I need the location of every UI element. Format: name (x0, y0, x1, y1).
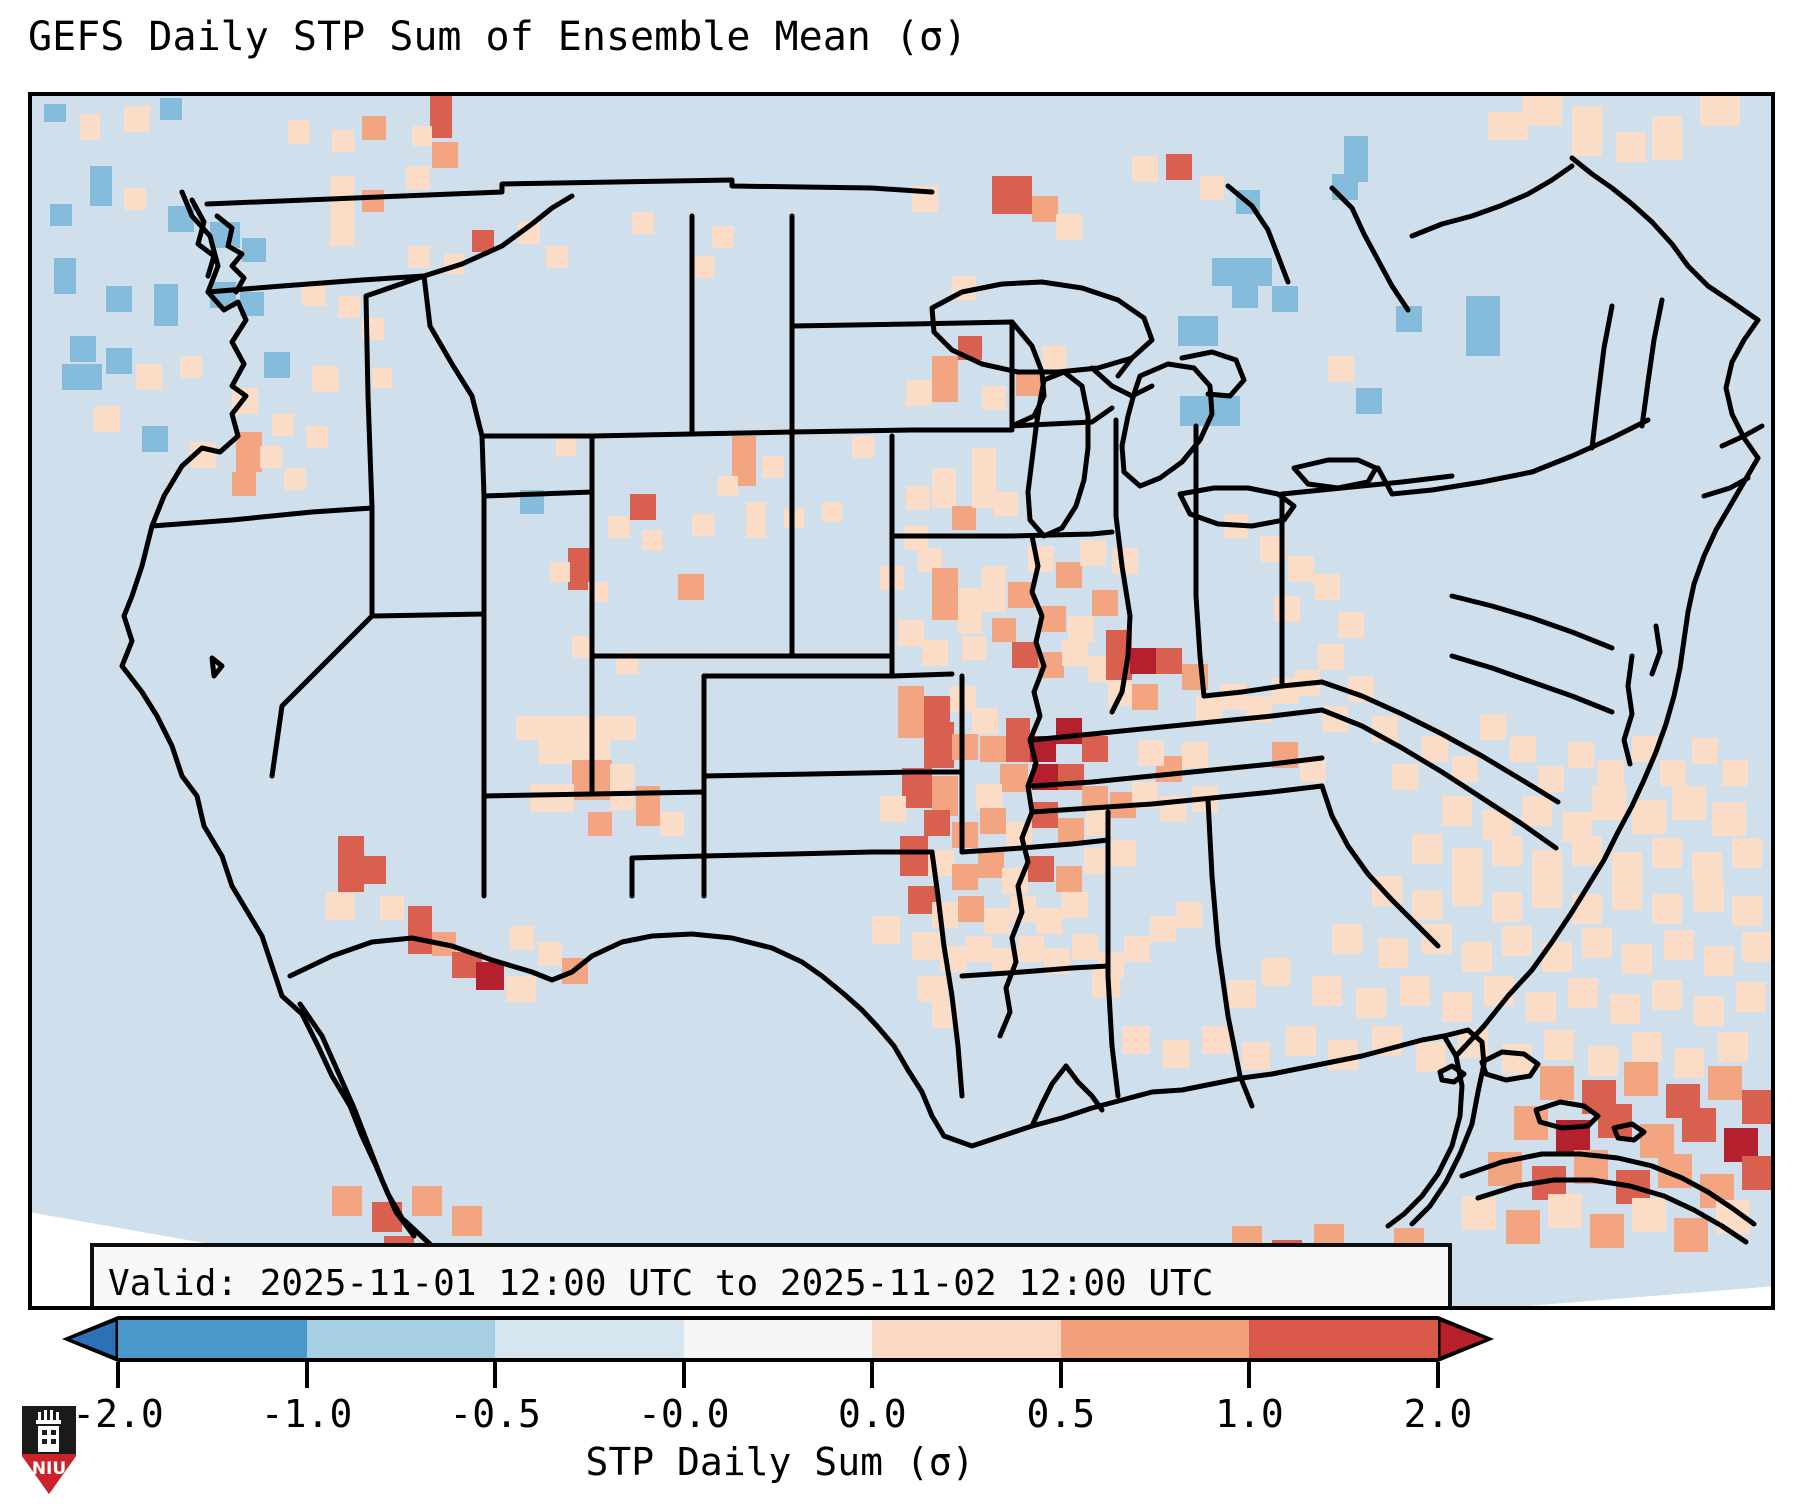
colorbar-tick-label: -2.0 (72, 1392, 164, 1436)
geography-layer (32, 96, 1771, 1306)
colorbar-gradient (118, 1316, 1438, 1362)
colorbar-tick (870, 1362, 874, 1388)
niu-logo-text: NIU (32, 1459, 66, 1479)
colorbar-segment (1249, 1320, 1438, 1358)
colorbar-tick (305, 1362, 309, 1388)
niu-logo: NIU (18, 1404, 80, 1496)
colorbar-tick (682, 1362, 686, 1388)
map-panel: Valid: 2025-11-01 12:00 UTC to 2025-11-0… (28, 92, 1775, 1310)
colorbar-tick-label: -1.0 (261, 1392, 353, 1436)
colorbar-tick-label: 0.5 (1027, 1392, 1096, 1436)
colorbar-tick-label: 0.0 (838, 1392, 907, 1436)
page-title: GEFS Daily STP Sum of Ensemble Mean (σ) (28, 14, 1768, 60)
colorbar-segment (307, 1320, 496, 1358)
colorbar-segment (684, 1320, 873, 1358)
colorbar-segment (495, 1320, 684, 1358)
colorbar-axis-label: STP Daily Sum (σ) (0, 1440, 1560, 1484)
colorbar-ticks (118, 1362, 1438, 1388)
colorbar-tick (1436, 1362, 1440, 1388)
colorbar-tick (116, 1362, 120, 1388)
colorbar-under-arrow (62, 1316, 118, 1362)
colorbar-tick (493, 1362, 497, 1388)
valid-time-text: Valid: 2025-11-01 12:00 UTC to 2025-11-0… (108, 1257, 1434, 1310)
colorbar-over-arrow (1438, 1316, 1494, 1362)
colorbar-tick (1247, 1362, 1251, 1388)
colorbar-tick-label: -0.0 (638, 1392, 730, 1436)
colorbar-tick-label: 2.0 (1404, 1392, 1473, 1436)
colorbar-tick-labels: -2.0-1.0-0.5-0.00.00.51.02.0 (118, 1392, 1438, 1438)
colorbar: -2.0-1.0-0.5-0.00.00.51.02.0 (0, 1316, 1803, 1376)
colorbar-segment (872, 1320, 1061, 1358)
colorbar-tick (1059, 1362, 1063, 1388)
colorbar-tick-label: -0.5 (449, 1392, 541, 1436)
colorbar-tick-label: 1.0 (1215, 1392, 1284, 1436)
colorbar-segment (118, 1320, 307, 1358)
colorbar-segment (1061, 1320, 1250, 1358)
annotation-box: Valid: 2025-11-01 12:00 UTC to 2025-11-0… (90, 1243, 1452, 1310)
